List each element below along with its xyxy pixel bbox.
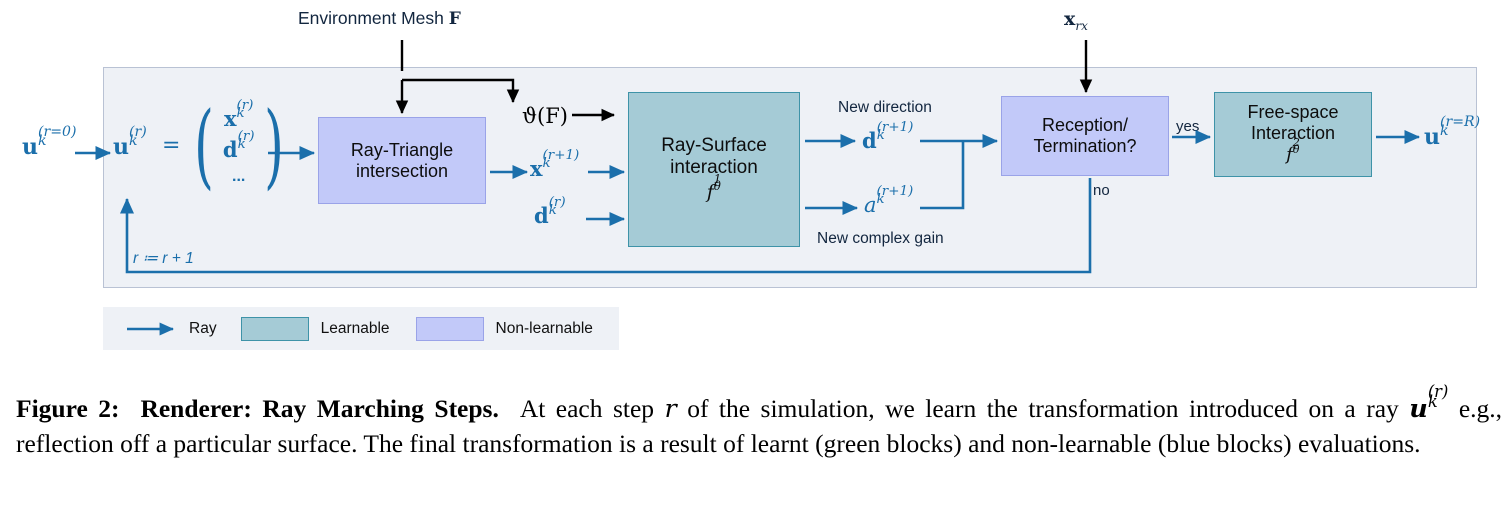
block-reception-termination[interactable]: Reception/ Termination? xyxy=(1001,96,1169,176)
legend-ray-arrow-icon xyxy=(125,319,181,339)
figure-caption: Figure 2: Renderer: Ray Marching Steps. … xyxy=(16,392,1502,461)
block-formula: f1θ xyxy=(707,181,722,205)
legend-item-learnable: Learnable xyxy=(241,317,390,341)
incoming-direction-symbol: d(r)k xyxy=(534,203,566,231)
initial-ray-symbol: u(r=0)k xyxy=(22,134,76,162)
legend-label-ray: Ray xyxy=(189,320,217,338)
left-paren: ( xyxy=(194,110,214,182)
branch-no-label: no xyxy=(1093,182,1110,199)
block-formula: f2θ xyxy=(1286,144,1300,166)
caption-body-2: of the simulation, we learn the transfor… xyxy=(677,394,1410,423)
block-line-2: Termination? xyxy=(1033,136,1136,157)
figure-legend: Ray Learnable Non-learnable xyxy=(103,307,619,350)
output-ray-symbol: u(r=R)k xyxy=(1424,124,1480,152)
block-line-1: Reception/ xyxy=(1042,115,1128,136)
block-line-1: Ray-Triangle xyxy=(351,140,453,161)
figure-diagram: Environment Mesh F xrx u(r=0)k u(r)k = (… xyxy=(0,0,1511,380)
ray-state-symbol: u(r)k xyxy=(113,134,147,162)
caption-body-1: At each step xyxy=(520,394,665,423)
ray-state-vector: ( x(r)k d(r)k ... ) xyxy=(186,105,291,187)
receiver-position-label: xrx xyxy=(1064,8,1088,31)
legend-swatch-nonlearnable xyxy=(416,317,484,341)
block-line-1: Ray-Surface xyxy=(661,135,767,157)
environment-mesh-label: Environment Mesh F xyxy=(298,8,461,29)
block-line-1: Free-space xyxy=(1247,102,1338,123)
equals-sign: = xyxy=(162,133,180,158)
vector-component-direction: d(r)k xyxy=(223,138,255,165)
legend-item-ray: Ray xyxy=(189,320,217,338)
legend-swatch-learnable xyxy=(241,317,309,341)
legend-label-nonlearnable: Non-learnable xyxy=(496,320,593,338)
new-direction-label: New direction xyxy=(838,99,932,117)
block-ray-triangle-intersection[interactable]: Ray-Triangle intersection xyxy=(318,117,486,204)
mesh-attribute-symbol: ϑ(F) xyxy=(522,104,568,128)
vector-ellipsis: ... xyxy=(232,169,245,185)
new-complex-gain-label: New complex gain xyxy=(817,230,944,248)
caption-number: Figure 2: xyxy=(16,394,120,423)
legend-item-nonlearnable: Non-learnable xyxy=(416,317,593,341)
caption-math-ray: u(r)k xyxy=(1409,394,1448,424)
new-direction-symbol: d(r+1)k xyxy=(862,128,913,156)
new-complex-gain-symbol: a(r+1)k xyxy=(864,193,913,220)
caption-math-r: r xyxy=(665,394,677,424)
hit-point-symbol: x(r+1)k xyxy=(530,156,579,184)
iteration-increment-label: r ≔ r + 1 xyxy=(133,249,194,268)
block-line-2: intersection xyxy=(356,161,448,182)
legend-label-learnable: Learnable xyxy=(321,320,390,338)
caption-title: Renderer: Ray Marching Steps. xyxy=(140,394,498,423)
right-paren: ) xyxy=(264,110,284,182)
environment-mesh-symbol: F xyxy=(449,9,461,29)
block-free-space-interaction[interactable]: Free-space Interaction f2θ xyxy=(1214,92,1372,177)
block-ray-surface-interaction[interactable]: Ray-Surface interaction f1θ xyxy=(628,92,800,247)
branch-yes-label: yes xyxy=(1176,118,1199,135)
